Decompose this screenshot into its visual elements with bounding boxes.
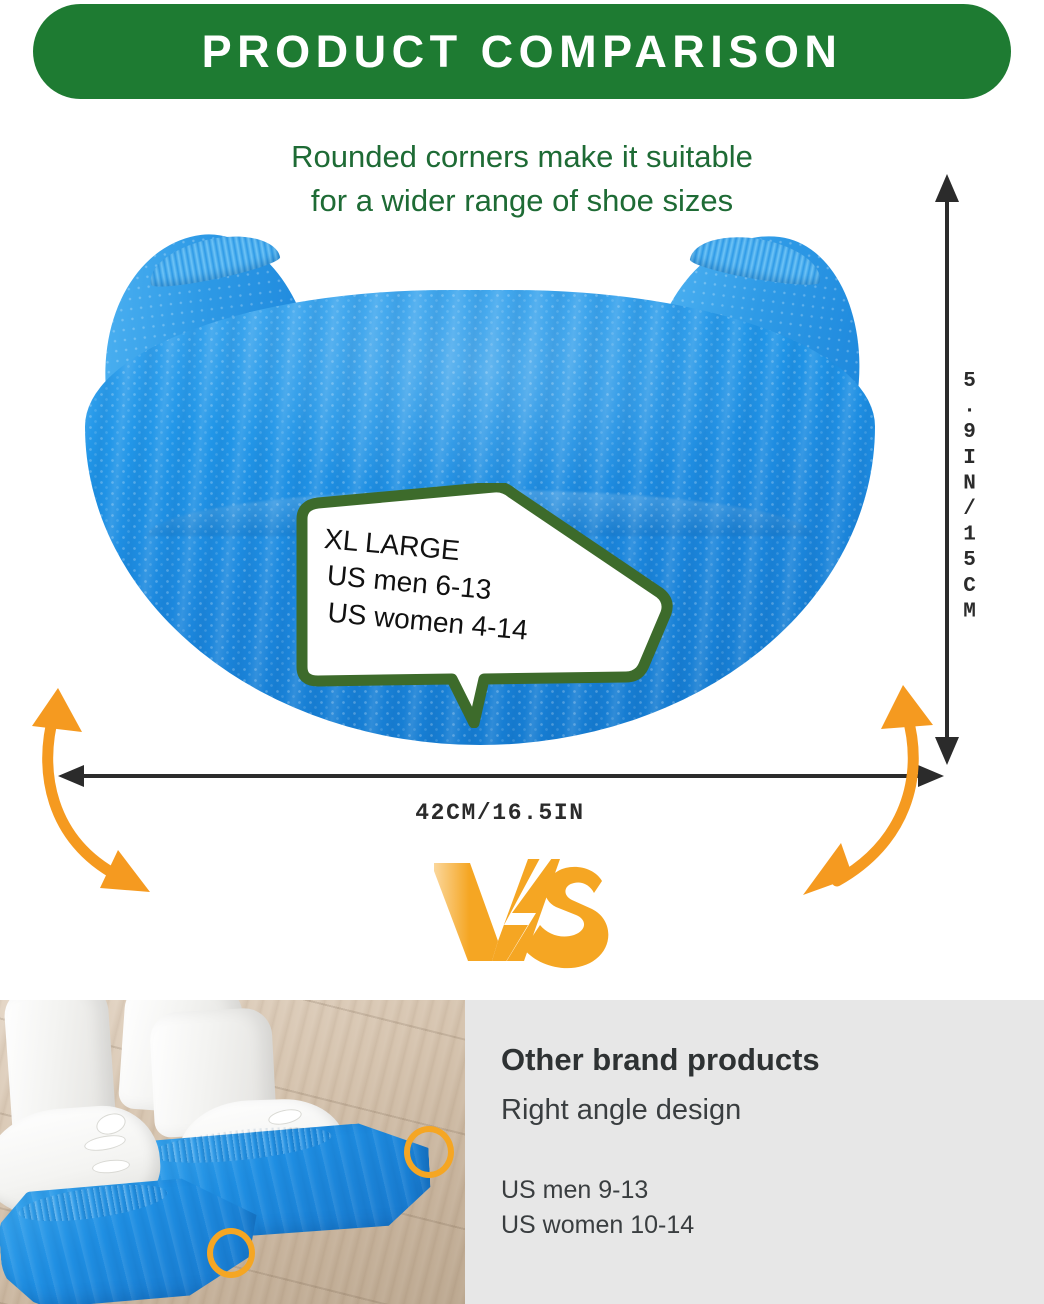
size-callout-bubble: XL LARGE US men 6-13 US women 4-14: [288, 483, 680, 728]
other-brand-photo: [0, 1000, 465, 1304]
other-brand-size-men: US men 9-13: [501, 1173, 1044, 1208]
corner-highlight-ring-lower: [207, 1228, 255, 1278]
height-dimension-label: 5.9IN/15CM: [958, 370, 981, 626]
subtitle-line-1: Rounded corners make it suitable: [0, 135, 1044, 179]
width-dimension-label: 42CM/16.5IN: [0, 800, 1000, 826]
other-brand-subtitle: Right angle design: [501, 1094, 1044, 1127]
page-title: PRODUCT COMPARISON: [202, 26, 843, 78]
corner-highlight-ring-upper: [404, 1126, 454, 1178]
other-brand-size-women: US women 10-14: [501, 1208, 1044, 1243]
versus-badge-icon: [424, 845, 614, 995]
flex-arrow-right-icon: [795, 667, 945, 907]
header-banner: PRODUCT COMPARISON: [33, 4, 1011, 99]
flex-arrow-left-icon: [10, 670, 180, 905]
product-hero: XL LARGE US men 6-13 US women 4-14: [0, 215, 1044, 795]
other-brand-title: Other brand products: [501, 1042, 1044, 1078]
other-brand-comparison-section: Other brand products Right angle design …: [0, 1000, 1044, 1304]
product-comparison-infographic: PRODUCT COMPARISON Rounded corners make …: [0, 0, 1044, 1304]
subtitle-block: Rounded corners make it suitable for a w…: [0, 135, 1044, 223]
other-brand-info-panel: Other brand products Right angle design …: [465, 1000, 1044, 1304]
